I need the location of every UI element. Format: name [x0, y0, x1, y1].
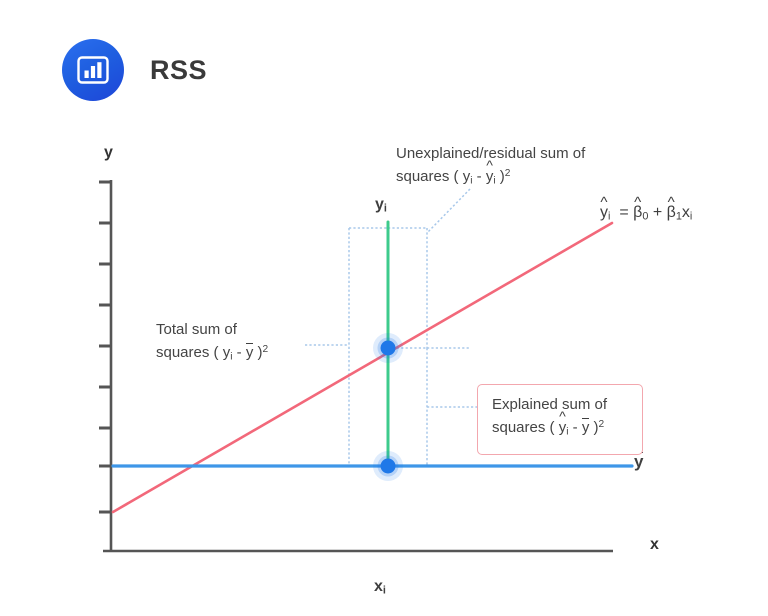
- y-i-label: yi: [375, 196, 387, 215]
- unexplained-minus: -: [472, 168, 485, 185]
- y-axis: [99, 180, 111, 552]
- explained-line2-prefix: squares (: [492, 419, 559, 436]
- equation-x: x: [682, 204, 690, 221]
- unexplained-sum-of-squares-bracket: [388, 228, 427, 348]
- unexplained-sum-of-squares-label: Unexplained/residual sum of squares ( yi…: [396, 144, 648, 192]
- explained-sum-of-squares-box: Explained sum of squares ( ^yi - y )2: [477, 384, 643, 455]
- y-bar-symbol: y: [634, 452, 643, 471]
- equation-equals: =: [619, 204, 628, 221]
- equation-plus: +: [653, 204, 662, 221]
- explained-ybar: y: [582, 419, 590, 436]
- y-i-symbol: y: [375, 196, 384, 213]
- x-i-symbol: x: [374, 578, 383, 595]
- y-axis-label: y: [104, 144, 113, 162]
- total-line1: Total sum of: [156, 321, 237, 338]
- explained-sum-of-squares-bracket: [388, 348, 427, 466]
- y-bar-label: y: [634, 452, 643, 472]
- y-i-subscript: i: [384, 203, 387, 215]
- x-i-label: xi: [374, 578, 386, 597]
- total-minus: -: [232, 344, 245, 361]
- explained-sum-of-squares-label: Explained sum of squares ( ^yi - y )2: [492, 395, 630, 443]
- regression-equation: ^yi = ^β0 + ^β1xi: [600, 204, 692, 223]
- unexplained-line2-suffix: ): [496, 168, 505, 185]
- explained-connector: [427, 348, 477, 407]
- unexplained-exponent: 2: [505, 168, 511, 179]
- equation-lhs-subscript: i: [608, 211, 610, 223]
- total-line2-prefix: squares ( y: [156, 344, 230, 361]
- mean-value-point: [373, 451, 403, 481]
- x-i-subscript: i: [383, 585, 386, 597]
- x-axis-label: x: [650, 536, 659, 554]
- total-ybar: y: [246, 344, 254, 361]
- unexplained-line2-prefix: squares ( y: [396, 168, 470, 185]
- explained-line1: Explained sum of: [492, 396, 607, 413]
- observed-value-point: [373, 333, 403, 363]
- total-sum-of-squares-label: Total sum of squares ( yi - y )2: [156, 320, 316, 368]
- unexplained-connector: [427, 189, 470, 233]
- equation-x-subscript: i: [690, 211, 692, 223]
- rss-diagram: [0, 0, 768, 616]
- equation-beta0-subscript: 0: [642, 211, 648, 223]
- total-exponent: 2: [262, 344, 268, 355]
- explained-minus: -: [568, 419, 581, 436]
- explained-exponent: 2: [598, 419, 604, 430]
